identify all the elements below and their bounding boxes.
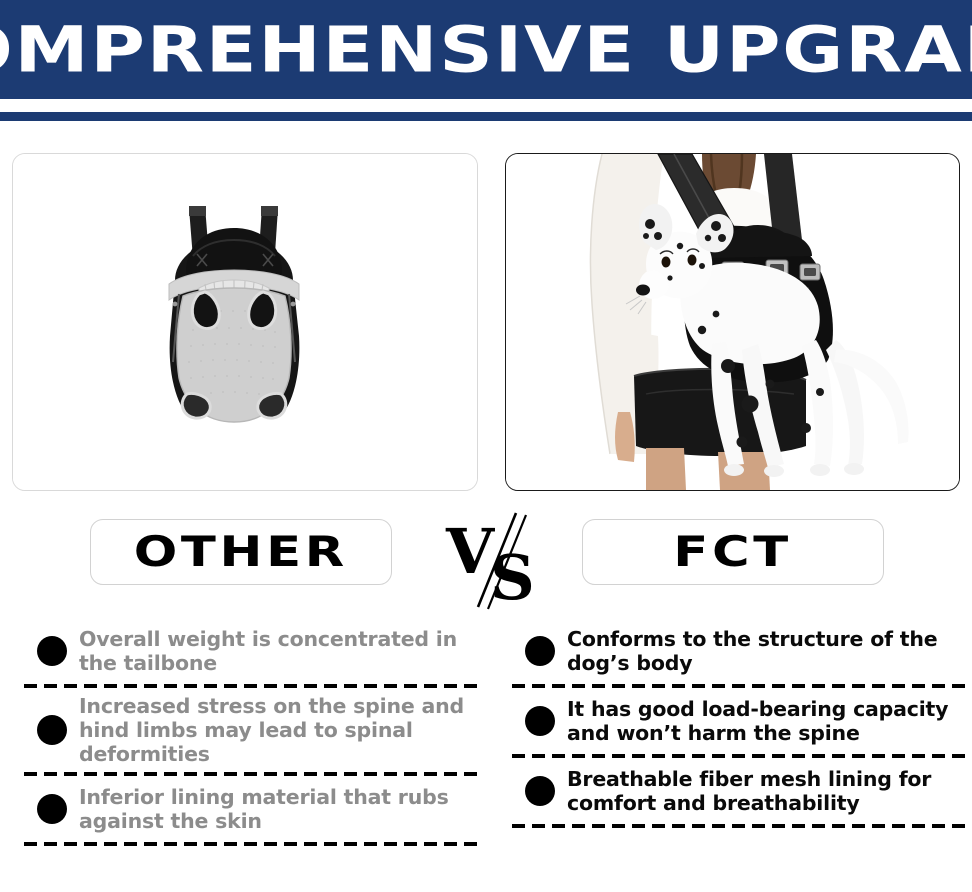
versus-letter-v: V [445, 515, 495, 588]
header-banner: COMPREHENSIVE UPGRADE [0, 0, 972, 99]
product-image-panels [0, 153, 972, 491]
fct-brand-label: FCT [674, 531, 793, 573]
feature-text: Conforms to the structure of the dog’s b… [567, 627, 967, 675]
versus-icon: V S [444, 511, 554, 611]
feature-divider [512, 824, 967, 828]
feature-text: Increased stress on the spine and hind l… [79, 694, 479, 766]
other-product-panel [12, 153, 478, 491]
fct-brand-badge: FCT [582, 519, 884, 585]
bullet-icon [525, 776, 555, 806]
list-item: Breathable fiber mesh lining for comfort… [512, 758, 967, 824]
list-item: Conforms to the structure of the dog’s b… [512, 618, 967, 684]
fct-product-panel [505, 153, 960, 491]
header-accent-bar [0, 112, 972, 121]
versus-row: OTHER V S FCT [0, 519, 972, 605]
fct-feature-column: Conforms to the structure of the dog’s b… [512, 618, 967, 828]
feature-text: Breathable fiber mesh lining for comfort… [567, 767, 967, 815]
list-item: Inferior lining material that rubs again… [24, 776, 479, 842]
bullet-icon [37, 636, 67, 666]
header-white-gap [0, 99, 972, 112]
list-item: It has good load-bearing capacity and wo… [512, 688, 967, 754]
bullet-icon [37, 715, 67, 745]
other-brand-badge: OTHER [90, 519, 392, 585]
page-title: COMPREHENSIVE UPGRADE [0, 18, 972, 81]
bullet-icon [37, 794, 67, 824]
feature-text: Inferior lining material that rubs again… [79, 785, 479, 833]
comparison-section: Overall weight is concentrated in the ta… [0, 618, 972, 892]
fct-product-photo [506, 154, 959, 490]
other-feature-column: Overall weight is concentrated in the ta… [24, 618, 479, 846]
feature-text: It has good load-bearing capacity and wo… [567, 697, 967, 745]
other-brand-label: OTHER [134, 531, 348, 573]
bullet-icon [525, 706, 555, 736]
other-brand-product-photo [13, 154, 477, 490]
list-item: Overall weight is concentrated in the ta… [24, 618, 479, 684]
list-item: Increased stress on the spine and hind l… [24, 688, 479, 772]
feature-divider [24, 842, 479, 846]
bullet-icon [525, 636, 555, 666]
feature-text: Overall weight is concentrated in the ta… [79, 627, 479, 675]
